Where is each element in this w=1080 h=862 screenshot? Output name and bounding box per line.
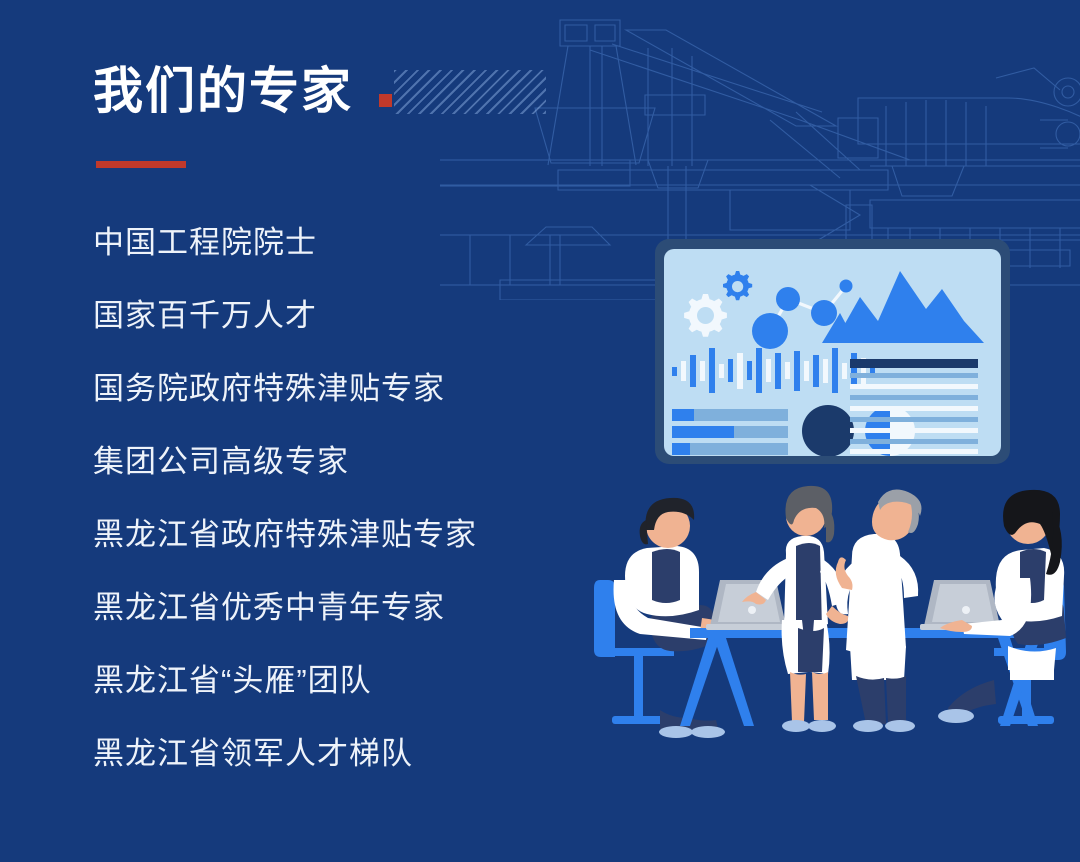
expert-credentials-list: 中国工程院院士 国家百千万人才 国务院政府特殊津贴专家 集团公司高级专家 黑龙江… — [93, 206, 613, 790]
list-item: 黑龙江省优秀中青年专家 — [93, 571, 613, 644]
list-item: 黑龙江省领军人才梯队 — [93, 717, 613, 790]
list-item: 集团公司高级专家 — [93, 425, 613, 498]
red-square-accent-icon — [379, 94, 392, 107]
standing-man-grey-hair — [836, 490, 922, 732]
board-screen — [664, 249, 1001, 456]
poster-canvas: 我们的专家 中国工程院院士 国家百千万人才 国务院政府特殊津贴专家 集团公司高级… — [0, 0, 1080, 862]
page-title: 我们的专家 — [93, 66, 353, 116]
waveform-bars — [672, 348, 875, 393]
scientists-meeting-illustration — [590, 460, 1080, 750]
large-gear-icon — [684, 294, 727, 337]
red-underline-rule — [96, 161, 186, 168]
list-item: 黑龙江省政府特殊津贴专家 — [93, 498, 613, 571]
dark-circle-shape — [802, 405, 854, 456]
diagonal-hatch-decoration — [394, 70, 546, 114]
progress-bars — [672, 409, 788, 455]
seated-man-left — [594, 498, 728, 738]
list-item: 中国工程院院士 — [93, 206, 613, 279]
list-item: 黑龙江省“头雁”团队 — [93, 644, 613, 717]
list-item: 国务院政府特殊津贴专家 — [93, 352, 613, 425]
headline-row: 我们的专家 — [93, 66, 546, 116]
small-gear-icon — [723, 271, 752, 300]
text-lines-block — [850, 359, 978, 454]
analytics-dashboard-board — [655, 239, 1010, 464]
list-item: 国家百千万人才 — [93, 279, 613, 352]
